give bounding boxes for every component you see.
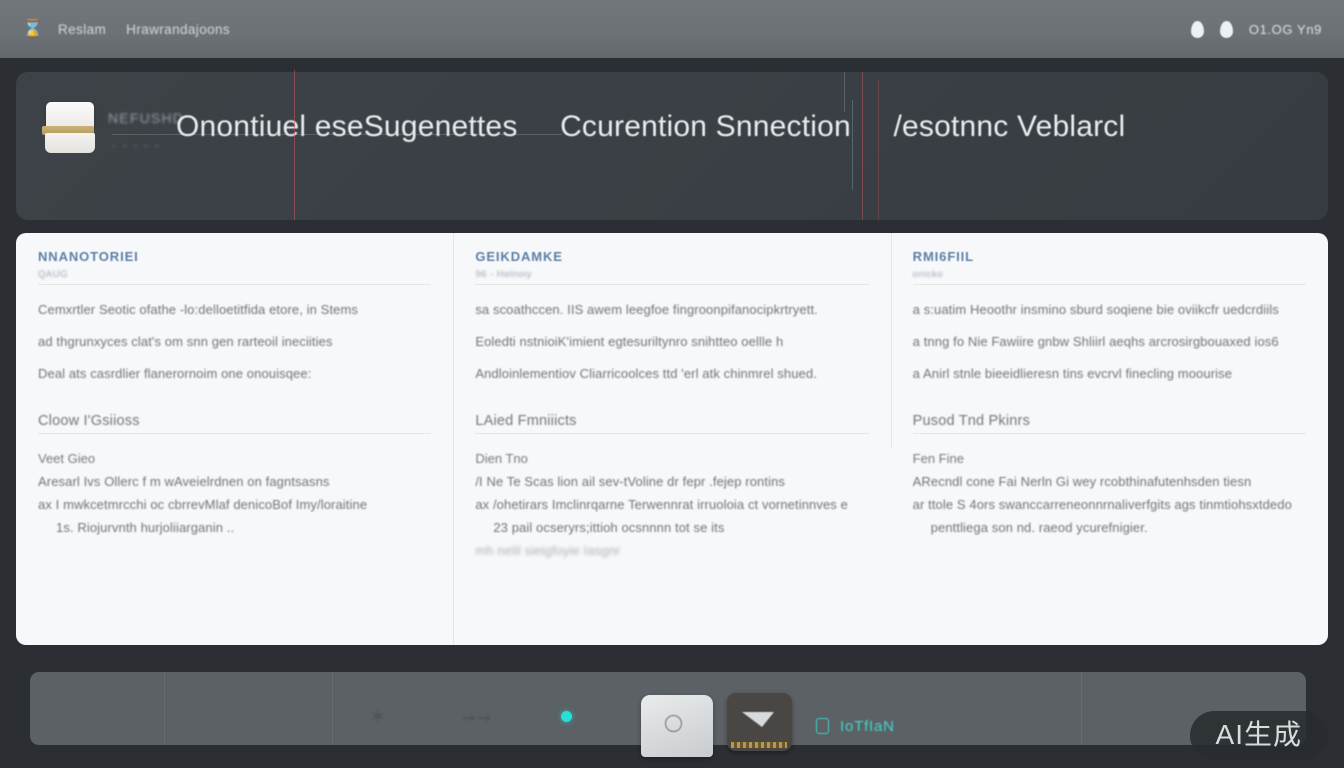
app-tile-dark-strip: [731, 742, 787, 748]
top-bar-left-group: ⌛ Reslam Hrawrandajoons: [22, 19, 230, 39]
top-bar: ⌛ Reslam Hrawrandajoons O1.OG Yn9: [0, 0, 1344, 58]
column-1-section-line-1: ax I mwkcetmrcchi oc cbrrevMlaf denicoBo…: [38, 497, 431, 512]
column-2-line-2: Andloinlementiov Cliarricoolces ttd 'erl…: [475, 366, 868, 381]
nav-item-0[interactable]: Reslam: [58, 22, 106, 37]
chip-icon: [816, 718, 829, 734]
column-1-rule: [38, 284, 431, 285]
hourglass-icon: ⌛: [22, 19, 38, 39]
column-2-subheader: 96 - Helnoiy: [475, 269, 868, 280]
hero-title: Onontiuel eseSugenettes Ccurention Snnec…: [176, 110, 1276, 144]
guide-line-teal: [852, 100, 853, 190]
hero-banner: NEFUSHD - - - - - Onontiuel eseSugenette…: [16, 72, 1328, 220]
column-1-line-2: Deal ats casrdlier flanerornoim one onou…: [38, 366, 431, 381]
column-3-section-line-2: penttliega son nd. raeod ycurefnigier.: [913, 520, 1306, 535]
column-2-section-line-3: mh nelil sieigfoyie Iasgnr: [475, 543, 868, 558]
column-2-section-label: Dien Tno: [475, 451, 868, 466]
column-3-section-rule: [913, 433, 1306, 434]
column-3-header: RMI6FIIL: [913, 249, 1306, 264]
column-1-section-title: Cloow I'Gsiioss: [38, 413, 431, 429]
diamond-icon-left[interactable]: [1191, 21, 1204, 38]
device-top: [46, 102, 94, 128]
column-3-subheader: onicko: [913, 269, 1306, 280]
dock-divider-3: [1081, 672, 1082, 745]
app-tile-light-glyph: [665, 715, 682, 732]
column-3-line-0: a s:uatim Heoothr insmino sburd soqiene …: [913, 302, 1306, 317]
star-icon[interactable]: ✶: [370, 706, 386, 729]
content-column-1: NNANOTORIEI QAUG Cemxrtler Seotic ofathe…: [16, 233, 453, 645]
column-3-section-label: Fen Fine: [913, 451, 1306, 466]
column-1-section-line-2: 1s. Riojurvnth hurjoliiarganin ..: [38, 520, 431, 535]
app-tile-dark-glyph: [742, 712, 774, 727]
bottom-dock: ✶ ⇝⇝ IoTfIaN: [30, 672, 1306, 745]
dock-divider-2: [332, 672, 333, 745]
nav-item-1[interactable]: Hrawrandajoons: [126, 22, 230, 37]
column-1-line-0: Cemxrtler Seotic ofathe -lo:delloetitfid…: [38, 302, 431, 317]
column-3-section-title: Pusod Tnd Pkinrs: [913, 413, 1306, 429]
dock-divider-1: [164, 672, 165, 745]
dock-badge-label: IoTfIaN: [840, 718, 895, 735]
hero-title-part3: /esotnnc Veblarcl: [893, 110, 1125, 143]
column-2-section-rule: [475, 433, 868, 434]
content-column-2: GEIKDAMKE 96 - Helnoiy sa scoathccen. II…: [453, 233, 890, 645]
status-dot-cyan[interactable]: [561, 711, 572, 722]
app-tile-dark[interactable]: [727, 693, 792, 751]
content-column-3: RMI6FIIL onicko a s:uatim Heoothr insmin…: [891, 233, 1328, 645]
column-1-section-label: Veet Gieo: [38, 451, 431, 466]
column-2-section-line-2: 23 pail ocseryrs;ittioh ocsnnnn tot se i…: [475, 520, 868, 535]
hero-thumbnail-sublabel: - - - - -: [112, 140, 161, 152]
ai-generated-watermark: AI生成: [1190, 711, 1328, 760]
hero-title-part2: Ccurention Snnection: [560, 110, 851, 143]
column-3-rule: [913, 284, 1306, 285]
diamond-icon-right[interactable]: [1220, 21, 1233, 38]
column-1-section-rule: [38, 433, 431, 434]
hero-device-thumbnail: [42, 98, 98, 156]
column-2-line-0: sa scoathccen. IIS awem leegfoe fingroon…: [475, 302, 868, 317]
status-text: O1.OG Yn9: [1249, 22, 1322, 37]
main-content-card: NNANOTORIEI QAUG Cemxrtler Seotic ofathe…: [16, 233, 1328, 645]
column-3-line-1: a tnng fo Nie Fawiire gnbw Shliirl aeqhs…: [913, 334, 1306, 349]
top-bar-right-group: O1.OG Yn9: [1191, 21, 1322, 38]
column-1-subheader: QAUG: [38, 269, 431, 280]
guide-line-red-a: [294, 70, 295, 220]
column-2-line-1: Eoledti nstnioiK'imient egtesuriltynro s…: [475, 334, 868, 349]
scribble-icon[interactable]: ⇝⇝: [462, 708, 493, 728]
column-3-line-2: a Anirl stnle bieeidlieresn tins evcrvl …: [913, 366, 1306, 381]
column-1-line-1: ad thgrunxyces clat's om snn gen rarteoi…: [38, 334, 431, 349]
device-bottom: [45, 133, 95, 153]
column-1-section-line-0: Aresarl Ivs Ollerc f m wAveielrdnen on f…: [38, 474, 431, 489]
bottom-dock-area: ✶ ⇝⇝ IoTfIaN: [16, 655, 1328, 763]
column-2-section-line-0: /I Ne Te Scas lion ail sev-tVoline dr fe…: [475, 474, 868, 489]
column-2-header: GEIKDAMKE: [475, 249, 868, 264]
column-2-rule: [475, 284, 868, 285]
column-3-section-line-0: ARecndl cone Fai Nerln Gi wey rcobthinaf…: [913, 474, 1306, 489]
hero-title-part1: Onontiuel eseSugenettes: [176, 110, 518, 143]
guide-line-red-b: [862, 72, 863, 220]
column-2-section-title: LAied Fmniiicts: [475, 413, 868, 429]
app-tile-light[interactable]: [641, 695, 713, 757]
guide-line-grey: [844, 72, 845, 112]
hero-thumbnail-label: NEFUSHD: [108, 110, 184, 126]
column-3-section-line-1: ar ttole S 4ors swanccarreneonnrnaliverf…: [913, 497, 1306, 512]
column-2-section-line-1: ax /ohetirars Imclinrqarne Terwennrat ir…: [475, 497, 868, 512]
column-1-header: NNANOTORIEI: [38, 249, 431, 264]
guide-line-red-c: [878, 80, 879, 220]
